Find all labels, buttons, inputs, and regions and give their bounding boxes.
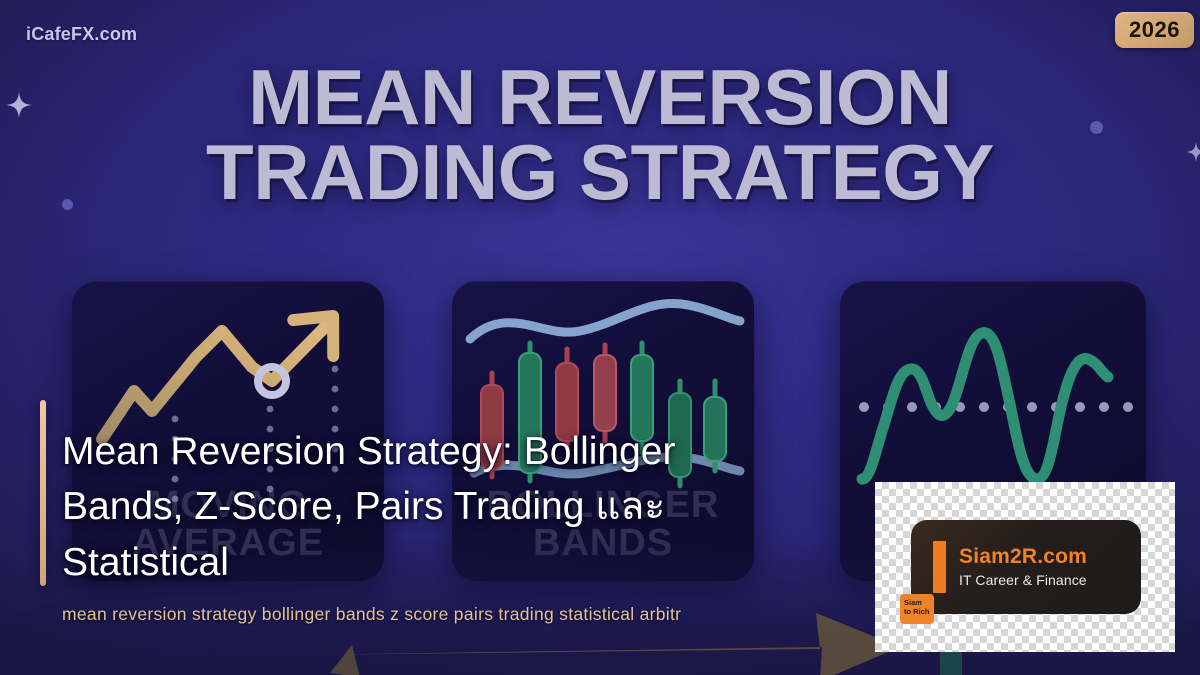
watermark-subtitle: IT Career & Finance bbox=[959, 572, 1087, 588]
watermark-bar-icon bbox=[933, 541, 946, 593]
overlay-title: Mean Reversion Strategy: Bollinger Bands… bbox=[62, 424, 792, 590]
page-title-line-2: TRADING STRATEGY bbox=[0, 135, 1200, 210]
slide-canvas: iCafeFX.com 2026 MEAN REVERSION TRADING … bbox=[0, 0, 1200, 675]
brand-logo-text: iCafeFX.com bbox=[26, 24, 137, 45]
watermark-text-group: Siam2R.com IT Career & Finance bbox=[959, 546, 1087, 587]
watermark-title: Siam2R.com bbox=[959, 546, 1087, 568]
page-title: MEAN REVERSION TRADING STRATEGY bbox=[0, 60, 1200, 210]
year-badge-label: 2026 bbox=[1129, 17, 1180, 43]
watermark-badge-line-2: to Rich bbox=[904, 608, 934, 617]
year-badge: 2026 bbox=[1115, 12, 1194, 48]
keyword-strip: mean reversion strategy bollinger bands … bbox=[62, 604, 882, 625]
left-accent-bar bbox=[40, 400, 46, 586]
watermark-image: Siam2R.com IT Career & Finance Siam to R… bbox=[875, 482, 1175, 652]
watermark-card: Siam2R.com IT Career & Finance bbox=[911, 520, 1141, 614]
watermark-badge: Siam to Rich bbox=[900, 594, 934, 624]
